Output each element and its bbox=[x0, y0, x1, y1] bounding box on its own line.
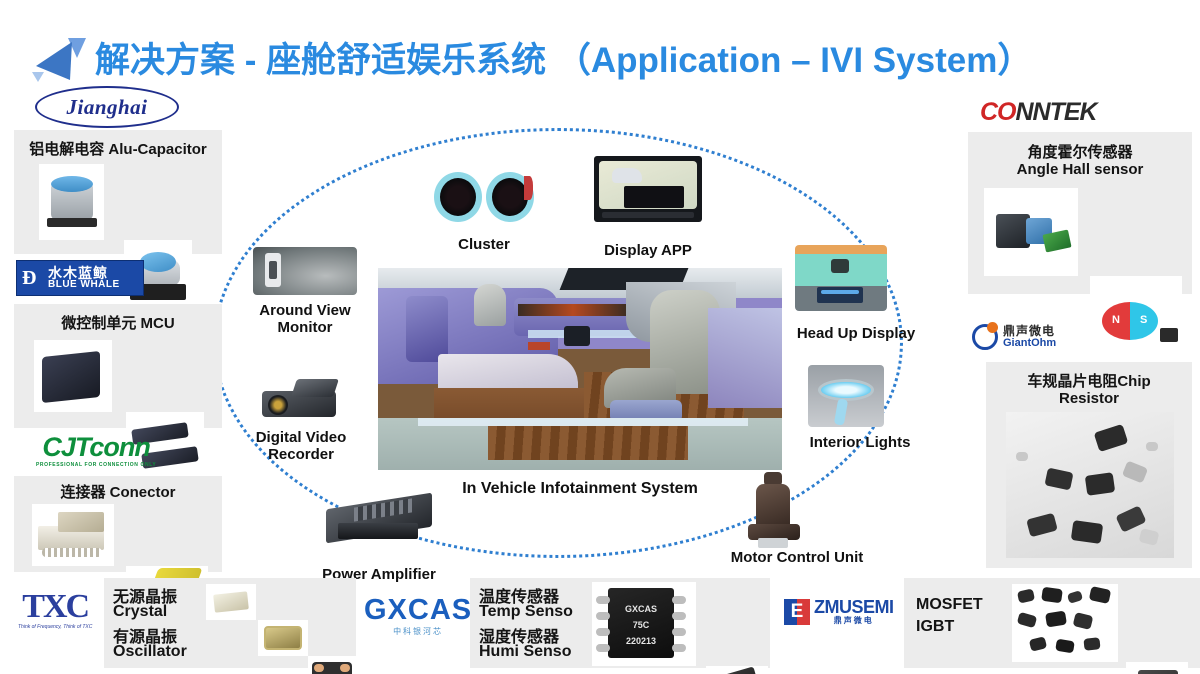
giantohm-caption-cn: 车规晶片电阻Chip bbox=[986, 370, 1192, 391]
gxcas-line-2: Temp Senso bbox=[479, 603, 573, 621]
vendor-card-cjt: CJTconn PROFESSIONAL FOR CONNECTION ONLY… bbox=[14, 434, 222, 574]
product-photo-connector-1 bbox=[32, 504, 114, 566]
product-photo-gxcas-to92: GXCAS 18B20 bbox=[706, 666, 768, 674]
cjt-logo-text: CJTconn bbox=[42, 434, 150, 461]
node-label-motor-control-unit: Motor Control Unit bbox=[712, 550, 882, 567]
conntek-caption-en: Angle Hall sensor bbox=[968, 161, 1192, 178]
blue-whale-logo-en: BLUE WHALE bbox=[48, 280, 120, 290]
node-image-interior-lights bbox=[808, 365, 884, 427]
zmusemi-line-2: IGBT bbox=[916, 618, 954, 636]
txc-logo: TXC Think of Frequency, Think of TXC bbox=[18, 590, 92, 630]
txc-logo-text: TXC bbox=[22, 590, 88, 624]
txc-panel: 无源晶振 Crystal 有源晶振 Oscillator bbox=[104, 578, 356, 668]
blue-whale-caption: 微控制单元 MCU bbox=[14, 312, 222, 333]
giantohm-logo: 鼎声微电 GiantOhm bbox=[972, 324, 1056, 350]
node-image-head-up-display bbox=[795, 245, 887, 311]
zmusemi-line-1: MOSFET bbox=[916, 596, 983, 614]
zmusemi-mark-icon: E bbox=[784, 599, 810, 625]
gxcas-logo: GXCAS 中科银河芯 bbox=[364, 596, 472, 636]
zmusemi-logo-text: ZMUSEMI bbox=[814, 598, 894, 617]
cjt-logo: CJTconn PROFESSIONAL FOR CONNECTION ONLY bbox=[36, 434, 156, 468]
vendor-card-giantohm: 鼎声微电 GiantOhm 车规晶片电阻Chip Resistor bbox=[968, 324, 1192, 568]
node-image-cluster bbox=[432, 172, 536, 228]
txc-line-2: Crystal bbox=[113, 603, 167, 621]
blue-whale-mark-icon: Ɖ bbox=[22, 265, 44, 291]
zmusemi-logo-sub: 鼎声微电 bbox=[814, 617, 894, 625]
gxcas-logo-text: GXCAS bbox=[364, 596, 472, 625]
vendor-card-gxcas: GXCAS 中科银河芯 温度传感器 Temp Senso 湿度传感器 Humi … bbox=[360, 578, 770, 674]
blue-whale-logo-cn: 水木蓝鲸 bbox=[48, 266, 120, 280]
txc-line-4: Oscillator bbox=[113, 643, 187, 661]
product-photo-mosfet-group bbox=[1012, 584, 1118, 662]
diagram-center-image bbox=[378, 268, 782, 470]
vendor-card-jianghai: Jianghai 铝电解电容 Alu-Capacitor bbox=[14, 86, 222, 254]
conntek-logo: CONNTEK bbox=[980, 98, 1097, 127]
product-photo-crystal-3 bbox=[308, 656, 356, 674]
product-photo-gxcas-soic: GXCAS 75C 220213 bbox=[592, 582, 696, 666]
txc-logo-tagline: Think of Frequency, Think of TXC bbox=[18, 625, 92, 630]
node-label-cluster: Cluster bbox=[424, 237, 544, 254]
vendor-card-zmusemi: E ZMUSEMI 鼎声微电 MOSFET IGBT bbox=[778, 578, 1200, 674]
giantohm-logo-en: GiantOhm bbox=[1003, 338, 1056, 350]
product-photo-mcu-1 bbox=[34, 340, 112, 412]
node-label-interior-lights: Interior Lights bbox=[790, 435, 930, 452]
vendor-card-conntek: CONNTEK 角度霍尔传感器 Angle Hall sensor N S bbox=[968, 98, 1192, 294]
diagram-center-label: In Vehicle Infotainment System bbox=[400, 480, 760, 498]
vendor-card-blue-whale: Ɖ 水木蓝鲸 BLUE WHALE 微控制单元 MCU bbox=[14, 260, 222, 428]
product-photo-crystal-1 bbox=[206, 584, 256, 620]
node-image-digital-video-recorder bbox=[258, 375, 342, 423]
node-image-display-app bbox=[594, 156, 702, 230]
product-photo-crystal-2 bbox=[258, 620, 308, 656]
cjt-panel: 连接器 Conector bbox=[14, 476, 222, 572]
gxcas-chip-line-2: 75C bbox=[612, 620, 670, 630]
node-label-display-app: Display APP bbox=[578, 243, 718, 260]
node-label-head-up-display: Head Up Display bbox=[780, 326, 932, 343]
slide-header: 解决方案 - 座舱舒适娱乐系统 （Application – IVI Syste… bbox=[0, 14, 1200, 74]
gxcas-line-4: Humi Senso bbox=[479, 643, 571, 661]
product-photo-igbt-to247 bbox=[1126, 662, 1188, 674]
conntek-caption-cn: 角度霍尔传感器 bbox=[968, 141, 1192, 162]
product-photo-alu-capacitor-1 bbox=[39, 164, 104, 240]
product-photo-hall-motor bbox=[984, 188, 1078, 276]
jianghai-logo-text: Jianghai bbox=[35, 86, 179, 128]
giantohm-panel: 车规晶片电阻Chip Resistor bbox=[986, 362, 1192, 568]
gxcas-logo-sub: 中科银河芯 bbox=[393, 628, 443, 636]
conntek-panel: 角度霍尔传感器 Angle Hall sensor N S bbox=[968, 132, 1192, 294]
giantohm-caption-en: Resistor bbox=[986, 390, 1192, 407]
triangle-arrow-logo-icon bbox=[28, 36, 90, 84]
zmusemi-logo: E ZMUSEMI 鼎声微电 bbox=[784, 598, 894, 625]
conntek-logo-prefix: CO bbox=[980, 98, 1016, 126]
conntek-logo-suffix: NNTEK bbox=[1016, 98, 1097, 126]
node-label-around-view-monitor: Around View Monitor bbox=[240, 303, 370, 337]
cjt-logo-tagline: PROFESSIONAL FOR CONNECTION ONLY bbox=[36, 463, 156, 468]
vendor-card-txc: TXC Think of Frequency, Think of TXC 无源晶… bbox=[0, 578, 356, 674]
gxcas-chip-line-3: 220213 bbox=[612, 636, 670, 646]
page-title: 解决方案 - 座舱舒适娱乐系统 （Application – IVI Syste… bbox=[95, 32, 1032, 83]
node-image-around-view-monitor bbox=[253, 247, 357, 295]
jianghai-logo: Jianghai bbox=[32, 86, 182, 128]
gxcas-chip-line-1: GXCAS bbox=[612, 604, 670, 614]
slide-canvas: 解决方案 - 座舱舒适娱乐系统 （Application – IVI Syste… bbox=[0, 0, 1200, 674]
blue-whale-logo: Ɖ 水木蓝鲸 BLUE WHALE bbox=[16, 260, 144, 296]
giantohm-mark-icon bbox=[972, 324, 998, 350]
blue-whale-panel: 微控制单元 MCU bbox=[14, 304, 222, 428]
jianghai-panel: 铝电解电容 Alu-Capacitor bbox=[14, 130, 222, 254]
zmusemi-panel: MOSFET IGBT bbox=[904, 578, 1200, 668]
cjt-caption: 连接器 Conector bbox=[14, 481, 222, 502]
gxcas-panel: 温度传感器 Temp Senso 湿度传感器 Humi Senso GXCAS … bbox=[470, 578, 770, 668]
jianghai-caption: 铝电解电容 Alu-Capacitor bbox=[14, 138, 222, 159]
giantohm-logo-cn: 鼎声微电 bbox=[1003, 325, 1056, 338]
product-photo-chip-resistors bbox=[1006, 412, 1174, 558]
node-label-digital-video-recorder: Digital Video Recorder bbox=[235, 430, 367, 464]
